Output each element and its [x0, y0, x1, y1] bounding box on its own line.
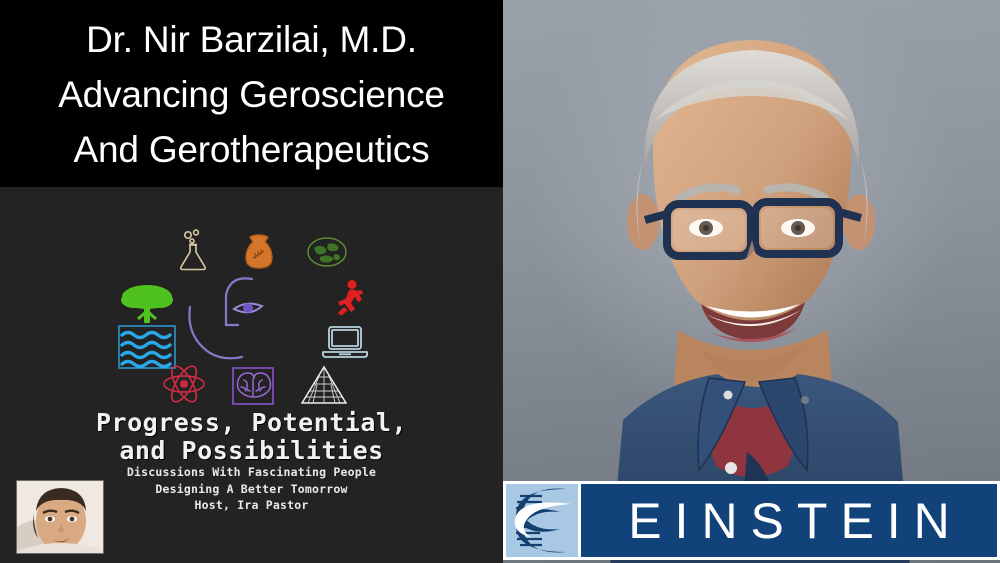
laptop-icon	[320, 323, 370, 368]
icon-collage	[116, 229, 384, 407]
title-line-3: And Gerotherapeutics	[74, 123, 430, 178]
title-block: Dr. Nir Barzilai, M.D. Advancing Gerosci…	[0, 0, 503, 187]
tree-icon	[118, 281, 176, 330]
einstein-logo: EINSTEIN	[503, 481, 1000, 560]
title-line-1: Dr. Nir Barzilai, M.D.	[86, 13, 417, 68]
slide-canvas: Dr. Nir Barzilai, M.D. Advancing Gerosci…	[0, 0, 1000, 563]
host-avatar-image	[17, 481, 104, 554]
left-panel: Dr. Nir Barzilai, M.D. Advancing Gerosci…	[0, 0, 503, 563]
einstein-wordmark: EINSTEIN	[615, 496, 963, 546]
grain-sack-icon	[240, 231, 278, 276]
runner-icon	[332, 279, 366, 320]
einstein-dna-icon	[503, 481, 581, 560]
flask-icon	[174, 229, 212, 276]
podcast-title-line-2: and Possibilities	[0, 437, 503, 465]
podcast-title: Progress, Potential, and Possibilities	[0, 409, 503, 465]
atom-icon	[162, 363, 206, 410]
face-icon	[182, 273, 278, 368]
brain-icon	[232, 367, 274, 410]
podcast-subtitle-line-1: Discussions With Fascinating People	[0, 464, 503, 481]
portrait-image	[503, 0, 1000, 563]
einstein-banner: EINSTEIN	[581, 481, 1000, 560]
podcast-title-line-1: Progress, Potential,	[0, 409, 503, 437]
pyramid-icon	[300, 365, 348, 410]
globe-icon	[306, 235, 348, 274]
title-line-2: Advancing Geroscience	[58, 68, 445, 123]
guest-portrait	[503, 0, 1000, 563]
host-avatar	[16, 480, 104, 554]
